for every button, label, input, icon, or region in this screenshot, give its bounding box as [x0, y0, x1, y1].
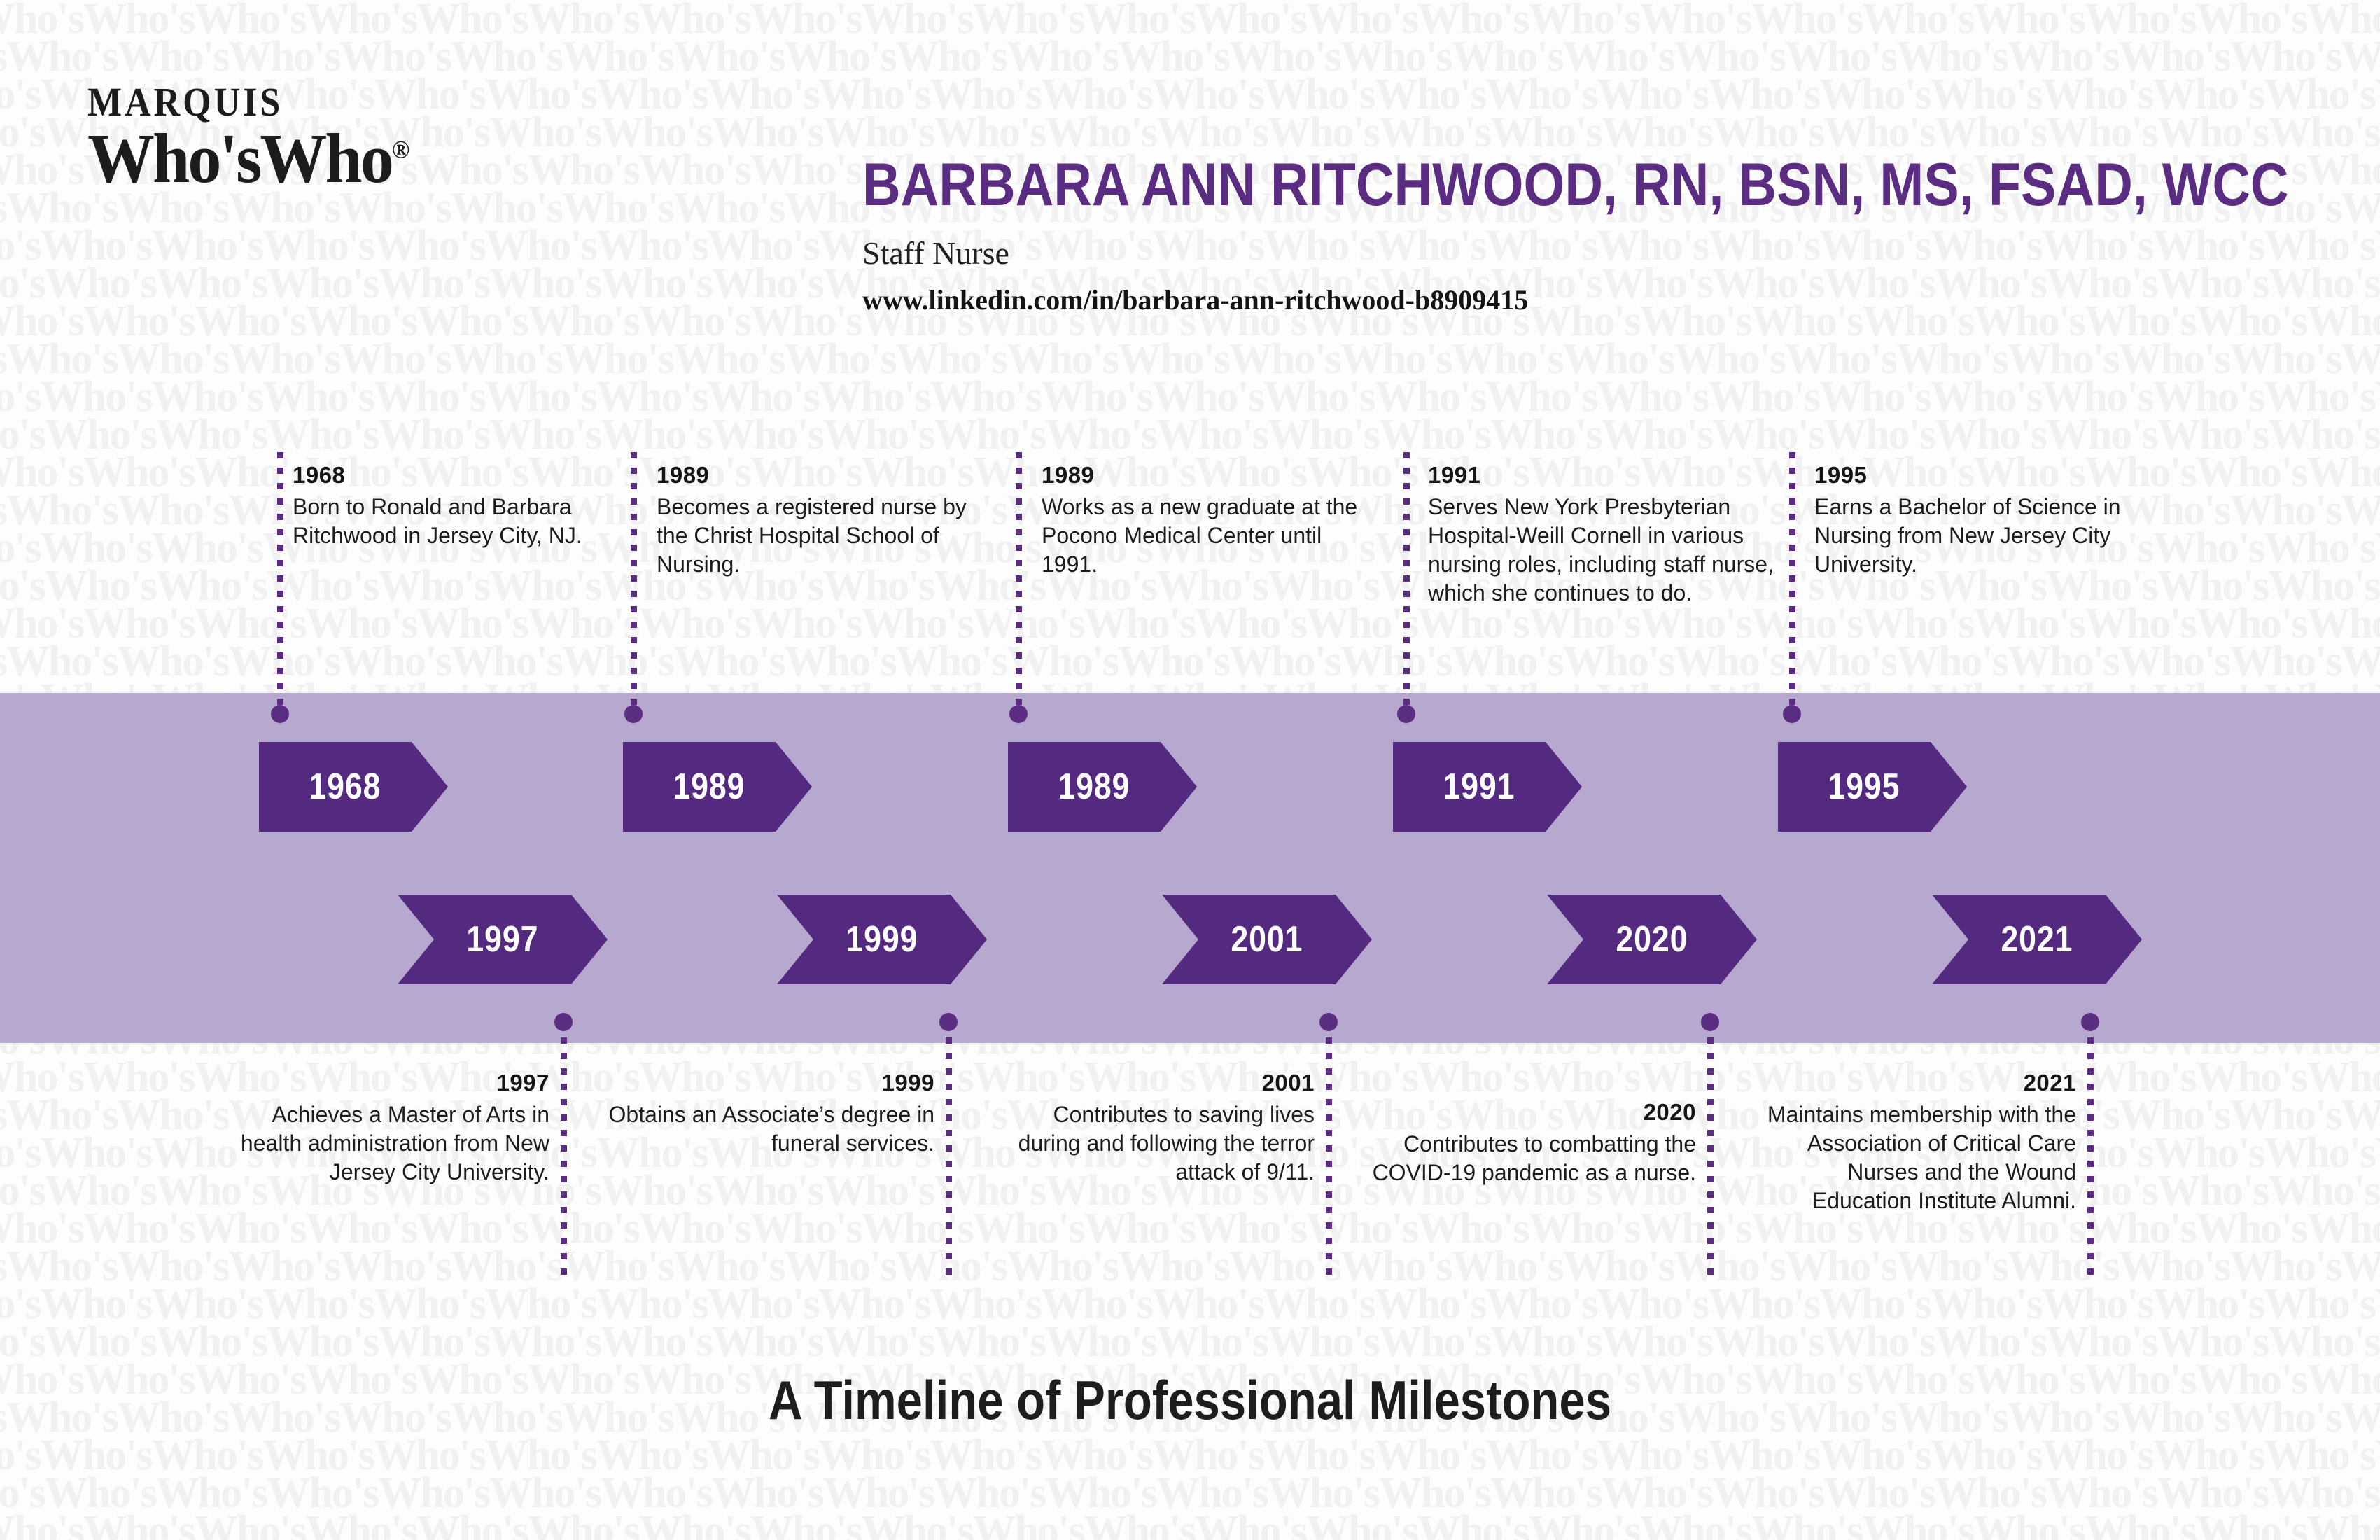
- milestone-connector-dot: [554, 1013, 573, 1031]
- milestone-description: Serves New York Presbyterian Hospital-We…: [1428, 493, 1792, 608]
- milestone-top-2: 1989Works as a new graduate at the Pocon…: [1042, 462, 1371, 579]
- milestone-year-label: 2001: [986, 1070, 1315, 1096]
- registered-trademark-icon: ®: [392, 136, 409, 164]
- milestone-connector-dot: [1701, 1013, 1719, 1031]
- chevron-label: 1997: [467, 918, 539, 960]
- watermark-row: Who'sWho'sWho'sWho'sWho'sWho'sWho'sWho's…: [0, 416, 2380, 454]
- chevron-label: 1989: [673, 766, 745, 808]
- milestone-connector-line: [1326, 1022, 1332, 1281]
- milestone-connector-line: [277, 452, 283, 714]
- milestone-top-3: 1991Serves New York Presbyterian Hospita…: [1428, 462, 1792, 608]
- milestone-connector-dot: [1397, 705, 1415, 723]
- milestone-year-label: 1997: [220, 1070, 549, 1096]
- milestone-connector-line: [631, 452, 637, 714]
- watermark-row: Who'sWho'sWho'sWho'sWho'sWho'sWho'sWho's…: [0, 1323, 2380, 1361]
- chevron-year-1989-top-2[interactable]: 1989: [1008, 742, 1197, 832]
- chevron-label: 1999: [846, 918, 918, 960]
- chevron-year-1995-top-4[interactable]: 1995: [1778, 742, 1967, 832]
- milestone-bottom-2: 2001Contributes to saving lives during a…: [986, 1070, 1315, 1186]
- milestone-description: Obtains an Associate’s degree in funeral…: [605, 1100, 934, 1158]
- milestone-description: Born to Ronald and Barbara Ritchwood in …: [293, 493, 622, 550]
- footer-title: A Timeline of Professional Milestones: [0, 1368, 2380, 1432]
- chevron-label: 1968: [309, 766, 381, 808]
- milestone-connector-dot: [624, 705, 643, 723]
- milestone-description: Achieves a Master of Arts in health admi…: [220, 1100, 549, 1186]
- milestone-connector-dot: [939, 1013, 958, 1031]
- chevron-label: 1991: [1443, 766, 1515, 808]
- milestone-year-label: 1989: [657, 462, 986, 489]
- chevron-label: 2001: [1231, 918, 1303, 960]
- watermark-row: Who'sWho'sWho'sWho'sWho'sWho'sWho'sWho's…: [0, 1474, 2380, 1512]
- milestone-bottom-1: 1999Obtains an Associate’s degree in fun…: [605, 1070, 934, 1158]
- logo-top-text: MARQUIS: [87, 83, 409, 123]
- milestone-connector-dot: [1319, 1013, 1338, 1031]
- milestone-year-label: 1999: [605, 1070, 934, 1096]
- milestone-connector-line: [1403, 452, 1410, 714]
- milestone-connector-dot: [1783, 705, 1801, 723]
- watermark-row: Who'sWho'sWho'sWho'sWho'sWho'sWho'sWho's…: [0, 1436, 2380, 1474]
- milestone-bottom-4: 2021Maintains membership with the Associ…: [1747, 1070, 2076, 1215]
- milestone-description: Maintains membership with the Associatio…: [1747, 1100, 2076, 1215]
- watermark-row: Who'sWho'sWho'sWho'sWho'sWho'sWho'sWho's…: [0, 605, 2380, 643]
- milestone-description: Works as a new graduate at the Pocono Me…: [1042, 493, 1371, 579]
- chevron-label: 2021: [2001, 918, 2073, 960]
- milestone-top-1: 1989Becomes a registered nurse by the Ch…: [657, 462, 986, 579]
- watermark-row: Who'sWho'sWho'sWho'sWho'sWho'sWho'sWho's…: [0, 643, 2380, 680]
- milestone-description: Becomes a registered nurse by the Christ…: [657, 493, 986, 579]
- chevron-year-1991-top-3[interactable]: 1991: [1393, 742, 1582, 832]
- milestone-description: Earns a Bachelor of Science in Nursing f…: [1814, 493, 2143, 579]
- watermark-row: Who'sWho'sWho'sWho'sWho'sWho'sWho'sWho's…: [0, 1247, 2380, 1285]
- chevron-year-1989-top-1[interactable]: 1989: [623, 742, 812, 832]
- person-job-title: Staff Nurse: [862, 234, 1009, 272]
- watermark-row: Who'sWho'sWho'sWho'sWho'sWho'sWho'sWho's…: [0, 1210, 2380, 1247]
- logo-bottom-word: Who'sWho: [87, 119, 392, 197]
- milestone-connector-line: [1707, 1022, 1714, 1281]
- milestone-connector-line: [561, 1022, 567, 1281]
- chevron-label: 1995: [1828, 766, 1900, 808]
- milestone-top-4: 1995Earns a Bachelor of Science in Nursi…: [1814, 462, 2143, 579]
- milestone-connector-dot: [271, 705, 289, 723]
- linkedin-profile-link[interactable]: www.linkedin.com/in/barbara-ann-ritchwoo…: [862, 283, 1528, 316]
- milestone-bottom-3: 2020Contributes to combatting the COVID-…: [1367, 1099, 1696, 1187]
- milestone-description: Contributes to saving lives during and f…: [986, 1100, 1315, 1186]
- milestone-connector-dot: [2081, 1013, 2099, 1031]
- milestone-year-label: 1991: [1428, 462, 1792, 489]
- milestone-year-label: 2021: [1747, 1070, 2076, 1096]
- milestone-year-label: 1989: [1042, 462, 1371, 489]
- milestone-connector-dot: [1009, 705, 1028, 723]
- milestone-description: Contributes to combatting the COVID-19 p…: [1367, 1130, 1696, 1187]
- marquis-whos-who-logo: MARQUIS Who'sWho®: [87, 83, 409, 190]
- page-title: BARBARA ANN RITCHWOOD, RN, BSN, MS, FSAD…: [862, 150, 2289, 220]
- watermark-row: Who'sWho'sWho'sWho'sWho'sWho'sWho'sWho's…: [0, 1512, 2380, 1540]
- milestone-connector-line: [1016, 452, 1022, 714]
- milestone-bottom-0: 1997Achieves a Master of Arts in health …: [220, 1070, 549, 1186]
- milestone-top-0: 1968Born to Ronald and Barbara Ritchwood…: [293, 462, 622, 550]
- milestone-connector-line: [2087, 1022, 2094, 1281]
- logo-bottom-text: Who'sWho®: [87, 123, 409, 194]
- milestone-year-label: 2020: [1367, 1099, 1696, 1126]
- watermark-row: Who'sWho'sWho'sWho'sWho'sWho'sWho'sWho's…: [0, 1285, 2380, 1323]
- header: MARQUIS Who'sWho® BARBARA ANN RITCHWOOD,…: [0, 0, 2380, 392]
- chevron-label: 1989: [1058, 766, 1130, 808]
- milestone-year-label: 1968: [293, 462, 622, 489]
- chevron-label: 2020: [1616, 918, 1688, 960]
- footer-title-text: A Timeline of Professional Milestones: [769, 1368, 1611, 1432]
- milestone-connector-line: [946, 1022, 952, 1281]
- chevron-year-1968-top-0[interactable]: 1968: [259, 742, 448, 832]
- milestone-year-label: 1995: [1814, 462, 2143, 489]
